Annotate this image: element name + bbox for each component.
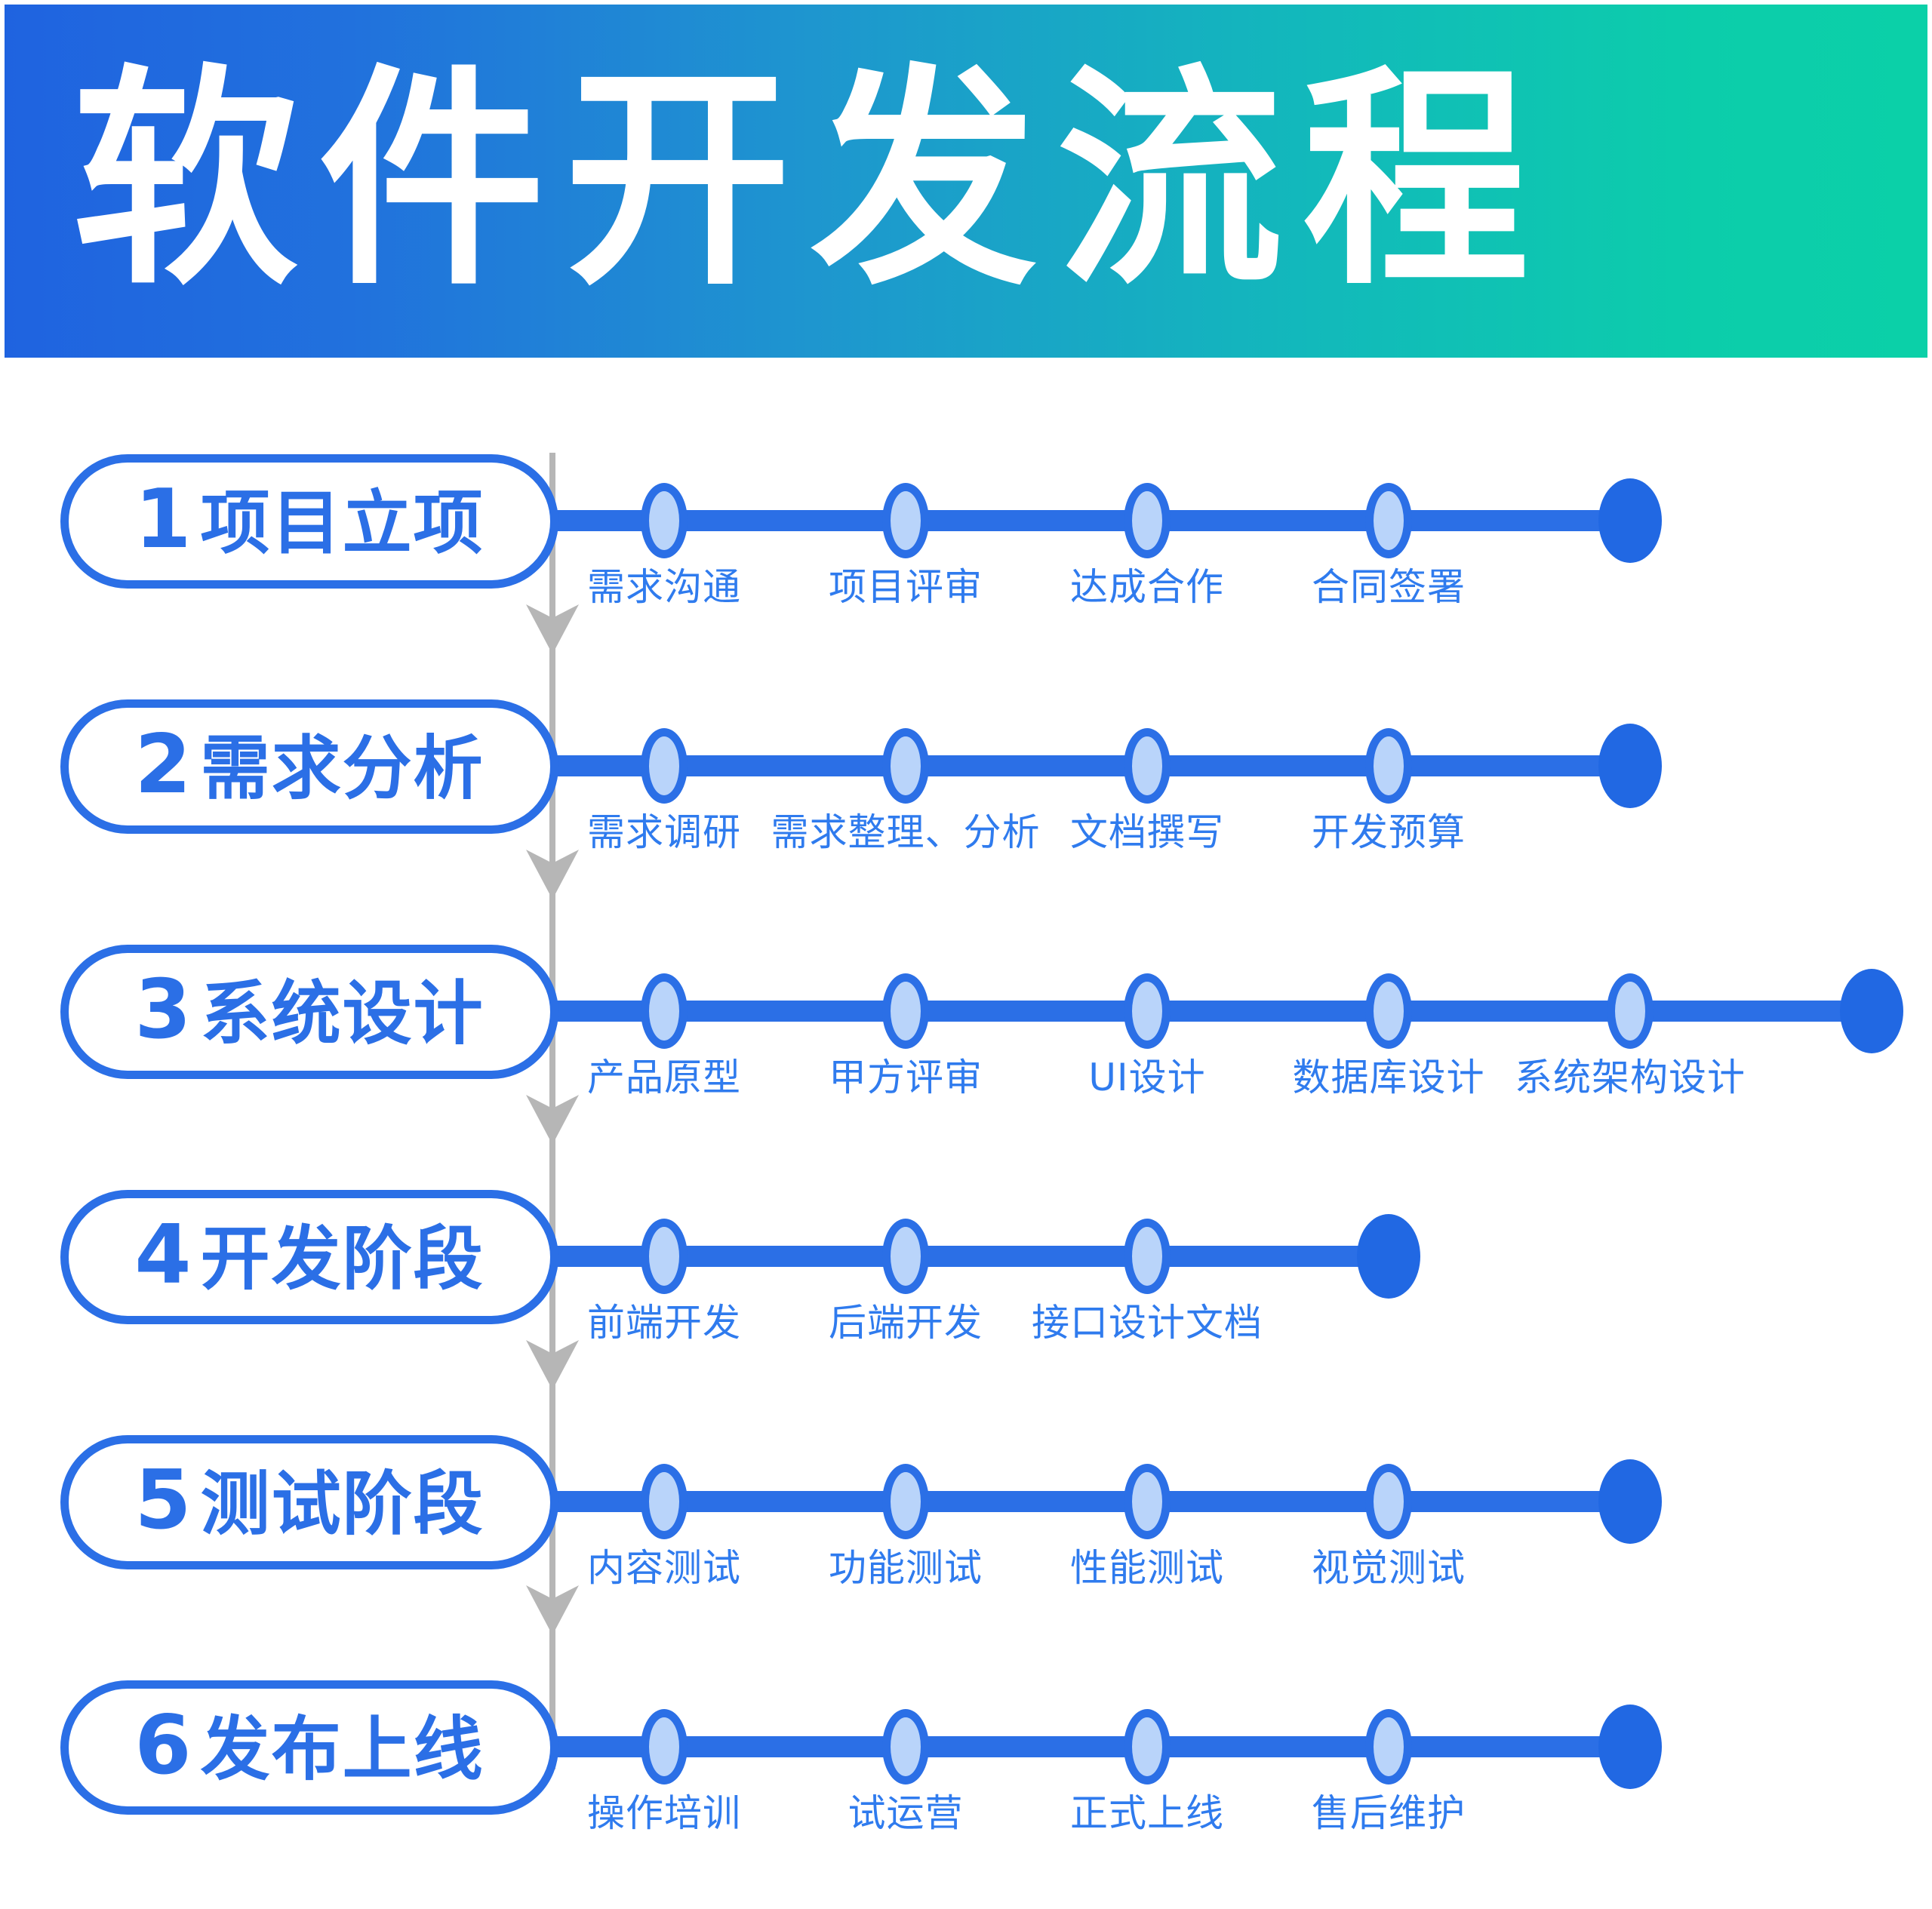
- stage-timeline-track: [548, 1001, 1872, 1022]
- infographic-poster: 软件开发流程 1项目立项需求沟通项目评审达成合作合同签署2需求分析需求调研需求整…: [0, 0, 1932, 1909]
- step-node[interactable]: [1365, 483, 1412, 558]
- stage-number: 1: [134, 479, 191, 561]
- stage-number: 4: [134, 1215, 191, 1296]
- step-label: 系统架构设计: [1515, 1058, 1746, 1098]
- step-node[interactable]: [1365, 973, 1412, 1049]
- stage-timeline-track: [548, 510, 1630, 531]
- step-label: 文档撰写: [1070, 813, 1224, 853]
- stage-pill-3[interactable]: 3系统设计: [60, 945, 558, 1079]
- step-label: 操作培训: [587, 1794, 741, 1834]
- stage-label: 发布上线: [201, 1715, 485, 1784]
- stage-label: 测试阶段: [201, 1470, 485, 1539]
- step-node[interactable]: [641, 1464, 688, 1539]
- step-node[interactable]: [1124, 1464, 1171, 1539]
- step-node[interactable]: [882, 1219, 929, 1294]
- stage-pill-text: 4开发阶段: [134, 1215, 484, 1296]
- stage-end-node: [1598, 1705, 1662, 1789]
- step-node[interactable]: [1124, 973, 1171, 1049]
- step-node[interactable]: [1124, 1709, 1171, 1784]
- stage-row: 2需求分析需求调研需求整理、分析文档撰写开发预算: [0, 699, 1932, 926]
- stage-label: 需求分析: [201, 734, 485, 804]
- step-node[interactable]: [882, 1709, 929, 1784]
- stage-number: 2: [134, 724, 191, 806]
- stage-label: 系统设计: [201, 979, 485, 1049]
- stage-number: 6: [134, 1705, 191, 1787]
- stage-pill-4[interactable]: 4开发阶段: [60, 1190, 558, 1324]
- step-node[interactable]: [1124, 728, 1171, 804]
- stage-label: 开发阶段: [201, 1225, 485, 1294]
- step-label: 需求沟通: [587, 567, 741, 607]
- stage-end-node: [1598, 1459, 1662, 1544]
- step-node[interactable]: [1365, 728, 1412, 804]
- step-label: 甲方评审: [829, 1058, 983, 1098]
- stage-row: 3系统设计产品原型甲方评审UI设计数据库设计系统架构设计: [0, 945, 1932, 1171]
- step-label: 达成合作: [1070, 567, 1224, 607]
- stage-number: 5: [134, 1460, 191, 1542]
- step-node[interactable]: [641, 483, 688, 558]
- stage-end-node: [1357, 1214, 1420, 1299]
- step-node[interactable]: [882, 728, 929, 804]
- stage-end-node: [1598, 724, 1662, 808]
- stage-pill-text: 5测试阶段: [134, 1460, 484, 1542]
- stage-row: 6发布上线操作培训试运营正式上线售后维护: [0, 1680, 1932, 1907]
- stage-row: 5测试阶段内容测试功能测试性能测试视觉测试: [0, 1435, 1932, 1662]
- step-node[interactable]: [1365, 1464, 1412, 1539]
- stage-pill-text: 6发布上线: [134, 1705, 484, 1787]
- step-node[interactable]: [641, 973, 688, 1049]
- step-label: 后端开发: [829, 1303, 983, 1343]
- step-label: 需求调研: [587, 813, 741, 853]
- step-label: 数据库设计: [1293, 1058, 1485, 1098]
- step-node[interactable]: [882, 973, 929, 1049]
- step-label: 性能测试: [1070, 1548, 1224, 1588]
- stage-timeline-track: [548, 1736, 1630, 1757]
- step-node[interactable]: [641, 1219, 688, 1294]
- step-node[interactable]: [1124, 483, 1171, 558]
- stage-end-node: [1840, 969, 1903, 1053]
- step-node[interactable]: [882, 483, 929, 558]
- stage-pill-6[interactable]: 6发布上线: [60, 1680, 558, 1815]
- step-label: 售后维护: [1312, 1794, 1466, 1834]
- stage-end-node: [1598, 478, 1662, 563]
- stage-row: 1项目立项需求沟通项目评审达成合作合同签署: [0, 454, 1932, 681]
- step-label: 接口设计文档: [1032, 1303, 1263, 1343]
- header-banner: 软件开发流程: [5, 5, 1927, 358]
- stage-pill-text: 1项目立项: [134, 479, 484, 561]
- step-label: 前端开发: [587, 1303, 741, 1343]
- stage-row: 4开发阶段前端开发后端开发接口设计文档: [0, 1190, 1932, 1416]
- stage-label: 项目立项: [201, 489, 485, 558]
- step-label: 试运营: [848, 1794, 964, 1834]
- stage-pill-1[interactable]: 1项目立项: [60, 454, 558, 589]
- stage-pill-2[interactable]: 2需求分析: [60, 699, 558, 834]
- step-node[interactable]: [641, 728, 688, 804]
- step-node[interactable]: [1124, 1219, 1171, 1294]
- step-label: 合同签署: [1312, 567, 1466, 607]
- page-title: 软件开发流程: [72, 65, 1549, 298]
- step-node[interactable]: [882, 1464, 929, 1539]
- step-node[interactable]: [641, 1709, 688, 1784]
- stage-pill-text: 2需求分析: [134, 724, 484, 806]
- flow-area: 1项目立项需求沟通项目评审达成合作合同签署2需求分析需求调研需求整理、分析文档撰…: [0, 358, 1932, 1909]
- step-label: 功能测试: [829, 1548, 983, 1588]
- stage-pill-text: 3系统设计: [134, 970, 484, 1051]
- step-node[interactable]: [1365, 1709, 1412, 1784]
- stage-pill-5[interactable]: 5测试阶段: [60, 1435, 558, 1569]
- step-label: 正式上线: [1070, 1794, 1224, 1834]
- step-label: UI设计: [1088, 1058, 1205, 1098]
- step-node[interactable]: [1607, 973, 1654, 1049]
- stage-number: 3: [134, 970, 191, 1051]
- step-label: 开发预算: [1312, 813, 1466, 853]
- stage-timeline-track: [548, 1491, 1630, 1512]
- step-label: 需求整理、分析: [771, 813, 1041, 853]
- step-label: 项目评审: [829, 567, 983, 607]
- step-label: 内容测试: [587, 1548, 741, 1588]
- stage-timeline-track: [548, 755, 1630, 776]
- step-label: 视觉测试: [1312, 1548, 1466, 1588]
- step-label: 产品原型: [587, 1058, 741, 1098]
